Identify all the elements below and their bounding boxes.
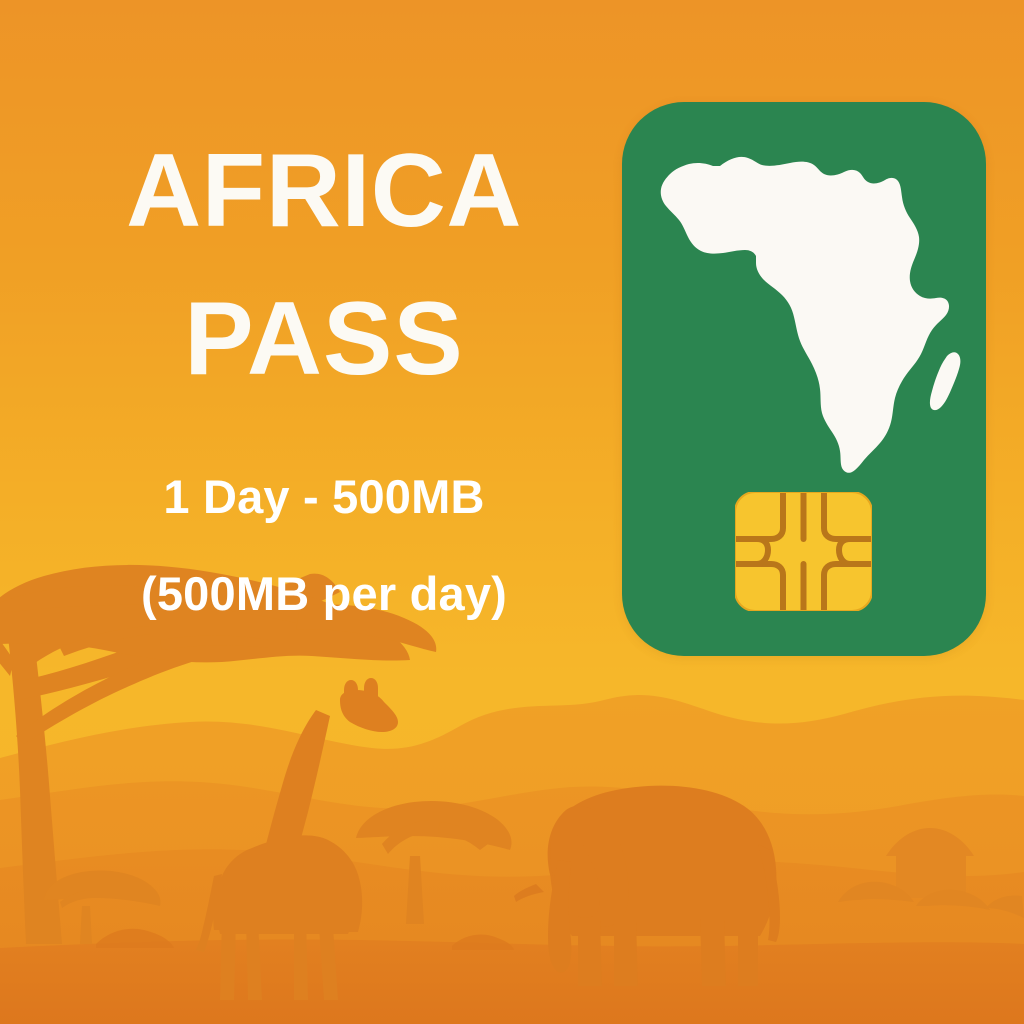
sim-card-graphic: [622, 102, 986, 656]
africa-continent-map-icon: [644, 138, 966, 474]
foreground-ground: [0, 939, 1024, 1024]
page-title-line-1: AFRICA: [28, 118, 620, 266]
page-title-line-2: PASS: [28, 266, 620, 414]
plan-daily-allowance-label: (500MB per day): [28, 570, 620, 617]
poster-text-block: AFRICA PASS 1 Day - 500MB (500MB per day…: [28, 118, 620, 617]
product-poster: AFRICA PASS 1 Day - 500MB (500MB per day…: [0, 0, 1024, 1024]
plan-duration-data-label: 1 Day - 500MB: [28, 473, 620, 520]
sim-chip-icon: [735, 492, 872, 611]
